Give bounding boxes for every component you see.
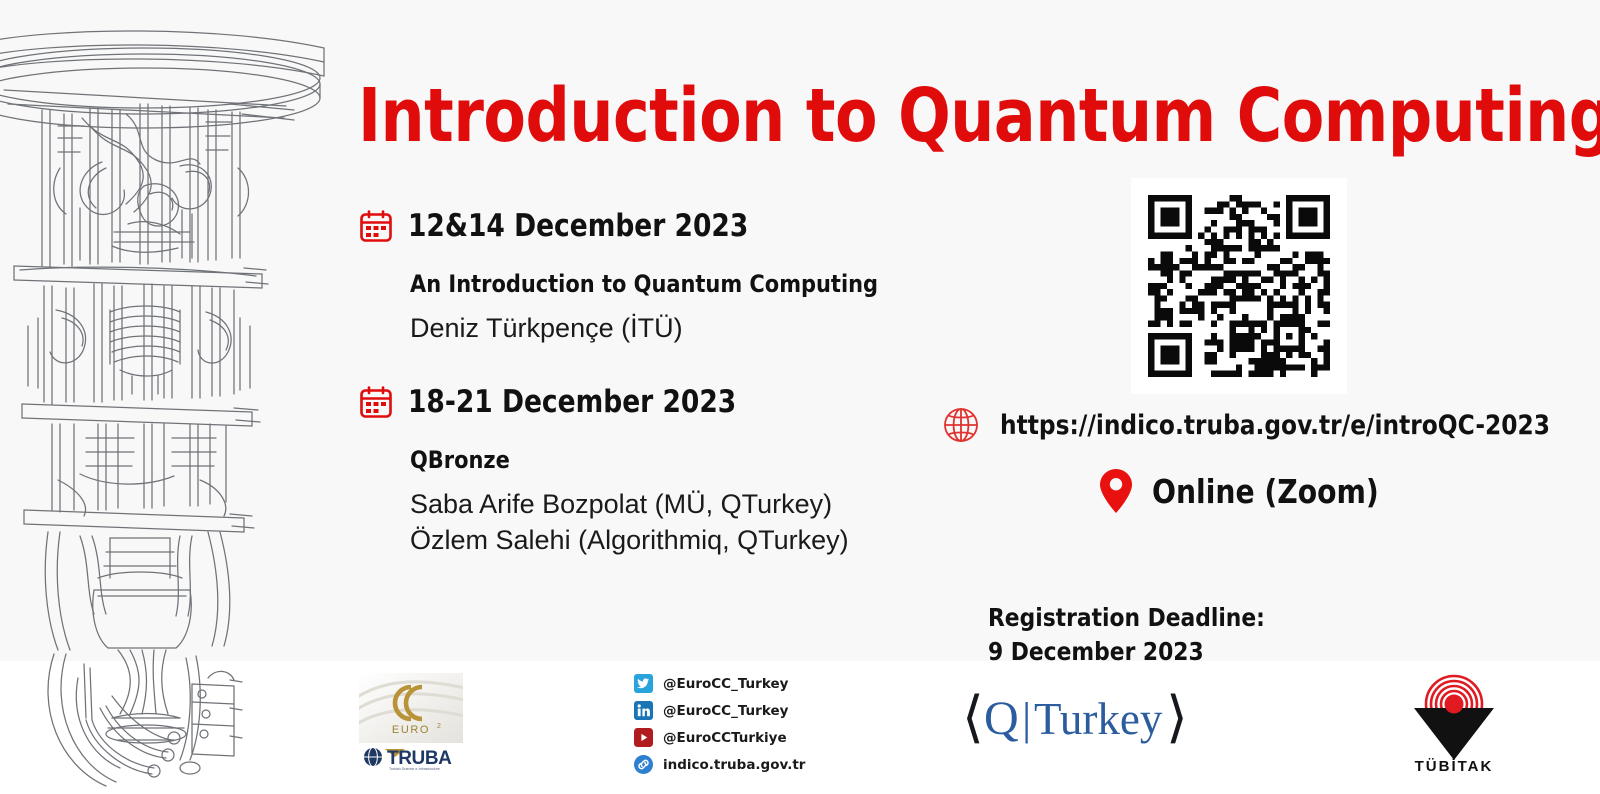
session-block-1: 12&14 December 2023 An Introduction to Q…	[358, 208, 928, 346]
qturkey-bracket-right: ⟩	[1166, 688, 1188, 749]
social-row-website[interactable]: indico.truba.gov.tr	[634, 751, 854, 778]
eurocc-wordmark: EURO	[392, 724, 430, 736]
tubitak-logo: TÜBİTAK	[1392, 668, 1516, 774]
session-speaker: Özlem Salehi (Algorithmiq, QTurkey)	[410, 522, 928, 558]
event-location: Online (Zoom)	[1152, 472, 1379, 511]
poster-title: Introduction to Quantum Computing	[358, 76, 1600, 156]
qturkey-q: Q	[984, 692, 1019, 745]
session-date-row: 12&14 December 2023	[358, 208, 928, 244]
social-handle: @EuroCCTurkiye	[663, 730, 787, 746]
linkedin-icon[interactable]	[634, 701, 653, 720]
calendar-icon	[358, 384, 394, 420]
social-row-twitter[interactable]: @EuroCC_Turkey	[634, 670, 854, 697]
qr-code[interactable]	[1131, 178, 1347, 394]
session-speaker: Saba Arife Bozpolat (MÜ, QTurkey)	[410, 486, 928, 522]
session-date: 18-21 December 2023	[408, 384, 736, 420]
session-speaker: Deniz Türkpençe (İTÜ)	[410, 310, 928, 346]
youtube-icon[interactable]	[634, 728, 653, 747]
session-course-title: An Introduction to Quantum Computing	[410, 270, 912, 298]
social-handle: indico.truba.gov.tr	[663, 757, 805, 773]
social-row-linkedin[interactable]: @EuroCC_Turkey	[634, 697, 854, 724]
sessions-column: 12&14 December 2023 An Introduction to Q…	[358, 208, 928, 558]
quantum-computer-illustration	[0, 18, 334, 794]
qturkey-bracket-left: ⟨	[962, 688, 984, 749]
session-course-title: QBronze	[410, 446, 912, 474]
poster-canvas: Introduction to Quantum Computing	[0, 0, 1600, 794]
social-row-youtube[interactable]: @EuroCCTurkiye	[634, 724, 854, 751]
svg-text:Turkish Science e-Infrastructu: Turkish Science e-Infrastructure	[389, 767, 440, 771]
session-date: 12&14 December 2023	[408, 208, 748, 244]
event-url[interactable]: https://indico.truba.gov.tr/e/introQC-20…	[1000, 410, 1550, 441]
social-links: @EuroCC_Turkey @EuroCC_Turkey @EuroC	[634, 670, 854, 778]
svg-text:2: 2	[437, 723, 441, 730]
social-handle: @EuroCC_Turkey	[663, 676, 788, 692]
truba-wordmark: TRUBA	[387, 748, 452, 769]
link-icon[interactable]	[634, 755, 653, 774]
calendar-icon	[358, 208, 394, 244]
qturkey-bar: |	[1022, 693, 1031, 744]
twitter-icon[interactable]	[634, 674, 653, 693]
event-url-row[interactable]: https://indico.truba.gov.tr/e/introQC-20…	[938, 402, 1573, 448]
session-date-row: 18-21 December 2023	[358, 384, 928, 420]
event-location-row: Online (Zoom)	[1098, 468, 1391, 514]
eurocc-truba-logo: EURO 2 TRUBA Turkish Science e-Infrastru…	[359, 673, 463, 771]
tubitak-wordmark: TÜBİTAK	[1415, 758, 1494, 774]
deadline-date: 9 December 2023	[988, 635, 1265, 669]
session-block-2: 18-21 December 2023 QBronze Saba Arife B…	[358, 384, 928, 558]
qturkey-word: Turkey	[1034, 694, 1163, 744]
globe-icon	[938, 402, 984, 448]
social-handle: @EuroCC_Turkey	[663, 703, 788, 719]
location-pin-icon	[1098, 468, 1134, 514]
qturkey-logo: ⟨ Q | Turkey ⟩	[960, 688, 1200, 750]
registration-deadline: Registration Deadline: 9 December 2023	[988, 601, 1265, 669]
deadline-label: Registration Deadline:	[988, 601, 1265, 635]
